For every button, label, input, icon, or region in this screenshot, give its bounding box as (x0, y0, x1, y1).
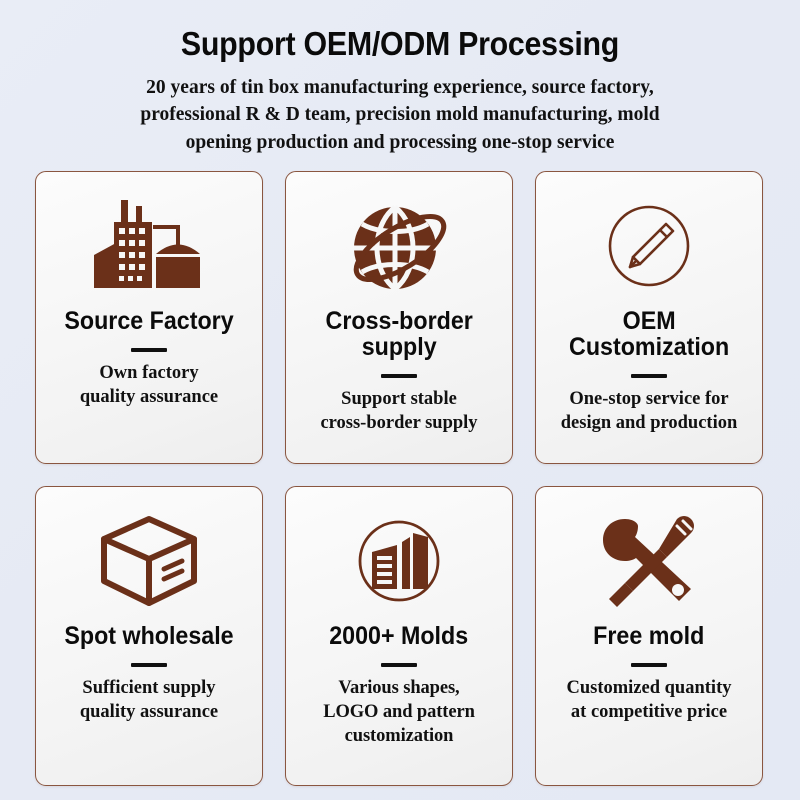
card-desc-line: Sufficient supply (44, 676, 254, 700)
card-desc-line: LOGO and pattern (294, 700, 504, 724)
card-description: Own factory quality assurance (44, 361, 254, 409)
card-title-line: Free mold (593, 623, 704, 649)
card-title: Source Factory (64, 308, 233, 334)
title-divider (131, 663, 167, 667)
feature-card-grid: Source Factory Own factory quality assur… (35, 171, 765, 786)
card-title-line: supply (325, 334, 472, 360)
card-description: One-stop service for design and producti… (544, 387, 754, 435)
globe-orbit-icon (345, 192, 453, 300)
card-title-line: OEM (569, 308, 729, 334)
box-3d-icon (94, 507, 204, 615)
title-divider (381, 374, 417, 378)
card-desc-line: customization (294, 724, 504, 748)
card-description: Support stable cross-border supply (294, 387, 504, 435)
buildings-circle-icon (350, 507, 448, 615)
subtitle-line: 20 years of tin box manufacturing experi… (64, 74, 736, 102)
card-description: Various shapes, LOGO and pattern customi… (294, 676, 504, 748)
pencil-circle-icon (600, 192, 698, 300)
card-title: Spot wholesale (64, 623, 233, 649)
card-title-line: 2000+ Molds (330, 623, 469, 649)
title-divider (381, 663, 417, 667)
card-title-line: Cross-border (325, 308, 472, 334)
title-divider (131, 348, 167, 352)
subtitle-line: professional R & D team, precision mold … (64, 101, 736, 129)
feature-card-oem-customization[interactable]: OEM Customization One-stop service for d… (535, 171, 763, 464)
page-subtitle: 20 years of tin box manufacturing experi… (64, 74, 736, 157)
card-description: Customized quantity at competitive price (544, 676, 754, 724)
title-divider (631, 374, 667, 378)
card-title-line: Spot wholesale (64, 623, 233, 649)
card-desc-line: quality assurance (44, 700, 254, 724)
card-title: Cross-border supply (325, 308, 472, 360)
card-title: Free mold (593, 623, 704, 649)
feature-card-cross-border-supply[interactable]: Cross-border supply Support stable cross… (285, 171, 513, 464)
card-desc-line: Own factory (44, 361, 254, 385)
card-desc-line: at competitive price (544, 700, 754, 724)
banner-header: Support OEM/ODM Processing 20 years of t… (0, 0, 800, 157)
card-title: 2000+ Molds (330, 623, 469, 649)
card-desc-line: Various shapes, (294, 676, 504, 700)
card-title-line: Customization (569, 334, 729, 360)
feature-card-molds[interactable]: 2000+ Molds Various shapes, LOGO and pat… (285, 486, 513, 786)
promo-banner: Support OEM/ODM Processing 20 years of t… (0, 0, 800, 800)
card-desc-line: Support stable (294, 387, 504, 411)
feature-card-free-mold[interactable]: Free mold Customized quantity at competi… (535, 486, 763, 786)
title-divider (631, 663, 667, 667)
factory-icon (90, 192, 208, 300)
subtitle-line: opening production and processing one-st… (64, 129, 736, 157)
card-desc-line: cross-border supply (294, 411, 504, 435)
wrench-screwdriver-icon (595, 507, 703, 615)
card-desc-line: quality assurance (44, 385, 254, 409)
card-desc-line: One-stop service for (544, 387, 754, 411)
feature-card-source-factory[interactable]: Source Factory Own factory quality assur… (35, 171, 263, 464)
card-desc-line: Customized quantity (544, 676, 754, 700)
card-title-line: Source Factory (64, 308, 233, 334)
page-title: Support OEM/ODM Processing (56, 26, 744, 62)
card-title: OEM Customization (569, 308, 729, 360)
feature-card-spot-wholesale[interactable]: Spot wholesale Sufficient supply quality… (35, 486, 263, 786)
card-description: Sufficient supply quality assurance (44, 676, 254, 724)
card-desc-line: design and production (544, 411, 754, 435)
